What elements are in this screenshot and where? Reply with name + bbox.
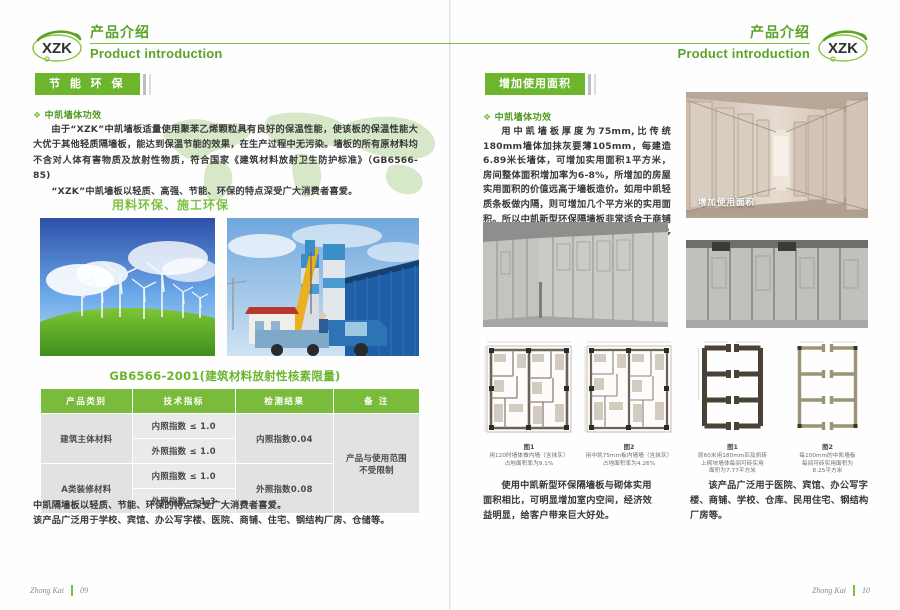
left-header-text: 产品介绍 Product introduction <box>90 24 450 62</box>
tab-divider-bar-light <box>594 74 596 95</box>
right-footer-brand: Zhong Kai <box>812 586 846 595</box>
left-header-title-cn: 产品介绍 <box>90 24 450 42</box>
th-indicator: 技术指标 <box>132 389 235 414</box>
wall-layout-1-caption-l2: 上砌块墙体每间可砖实用 <box>690 461 775 469</box>
svg-text:XZK: XZK <box>42 40 72 57</box>
right-footer-copy-left: 使用中凯新型环保隔墙板与砌体实用面积相比，可明显增加室内空间，经济效益明显，给客… <box>483 478 659 523</box>
wall-layout-2-caption-l2: 每间可砖实用面积为 <box>785 461 870 469</box>
right-section-tab[interactable]: 增加使用面积 <box>485 73 596 95</box>
left-header-rule <box>90 43 450 44</box>
wall-layout-diagram-group: 图1 原60米用180mm匹及凯砖 上砌块墙体每间可砖实用 面积为7.77平方米 <box>690 338 870 476</box>
cell-category-1: 建筑主体材料 <box>41 414 133 464</box>
left-footer-copy: 中凯隔墙板以轻质、节能、环保的特点深受广大消费者喜爱。 该产品广泛用于学校、宾馆… <box>33 498 423 528</box>
table-row: 建筑主体材料 内照指数 ≤ 1.0 内照指数0.04 产品与使用范围 不受限制 <box>41 414 420 439</box>
left-sub-heading-label: 中凯墙体功效 <box>45 111 102 121</box>
floorplan-2-caption-l1: 用中凯75mm板内墙墙（含抹灰） <box>583 453 675 461</box>
right-sub-heading-label: 中凯墙体功效 <box>495 113 552 123</box>
wall-layout-2-number: 图2 <box>785 442 870 451</box>
left-header-title-en: Product introduction <box>90 46 450 62</box>
left-green-caption: 用料环保、施工环保 <box>112 196 229 213</box>
right-header-rule <box>450 43 810 44</box>
right-section-tab-label: 增加使用面积 <box>485 73 585 95</box>
photo-corridor-label: 增加使用面积 <box>698 196 755 208</box>
th-remark: 备 注 <box>333 389 419 414</box>
th-result: 检测结果 <box>235 389 333 414</box>
left-page-header: XZK 产品介绍 Product introduction <box>30 24 450 70</box>
left-footer-line-1: 中凯隔墙板以轻质、节能、环保的特点深受广大消费者喜爱。 <box>33 498 423 513</box>
wall-layout-2-caption: 每100mm的中凯墙板 每间可砖实用面积为 8.25平方米 <box>785 453 870 476</box>
tab-divider-bar <box>588 74 591 95</box>
right-header-title-en: Product introduction <box>450 46 810 62</box>
floorplan-2-number: 图2 <box>583 442 675 451</box>
diamond-icon: ❖ <box>483 113 492 123</box>
floorplan-2-caption: 用中凯75mm板内墙墙（含抹灰） 占地面积率为4.26% <box>583 453 675 468</box>
floorplan-1-caption-l1: 用120时墙体做内墙（含抹灰） <box>483 453 575 461</box>
svg-text:XZK: XZK <box>828 40 858 57</box>
right-sub-heading: ❖中凯墙体功效 <box>483 110 552 123</box>
right-footer-copy-right: 该产品广泛用于医院、宾馆、办公写字楼、商铺、学校、仓库、民用住宅、钢结构厂房等。 <box>690 478 870 523</box>
floorplan-2-caption-l2: 占地面积率为4.26% <box>583 461 675 469</box>
radionuclide-spec-table: 产品类别 技术指标 检测结果 备 注 建筑主体材料 内照指数 ≤ 1.0 内照指… <box>40 388 420 514</box>
photo-corridor: 增加使用面积 <box>686 92 868 218</box>
right-page: XZK 产品介绍 Product introduction 增加使用面积 ❖中凯… <box>450 0 900 610</box>
floorplan-1-caption: 用120时墙体做内墙（含抹灰） 占地面积率为9.1% <box>483 453 575 468</box>
cell-remark-line1: 产品与使用范围 <box>346 453 407 463</box>
photo-construction-site <box>227 218 419 356</box>
brochure-spread: XZK 产品介绍 Product introduction 节 能 环 保 ❖中… <box>0 0 900 610</box>
cell-indicator-1a: 内照指数 ≤ 1.0 <box>132 414 235 439</box>
cell-remark-line2: 不受限制 <box>359 465 394 475</box>
cell-indicator-2a: 内照指数 ≤ 1.0 <box>132 464 235 489</box>
left-footer-brand: Zhong Kai <box>30 586 64 595</box>
floorplan-1-caption-l2: 占地面积率为9.1% <box>483 461 575 469</box>
table-title: GB6566-2001(建筑材料放射性核素限量) <box>0 368 450 384</box>
footer-divider <box>853 585 855 596</box>
photo-wall-panel-row <box>686 240 868 328</box>
left-section-tab-label: 节 能 环 保 <box>35 73 140 95</box>
th-category: 产品类别 <box>41 389 133 414</box>
left-section-tab[interactable]: 节 能 环 保 <box>35 73 151 95</box>
right-page-header: XZK 产品介绍 Product introduction <box>450 24 870 70</box>
page-gutter <box>449 0 451 610</box>
cell-indicator-1b: 外照指数 ≤ 1.0 <box>132 439 235 464</box>
tab-divider-bar-light <box>149 74 151 95</box>
right-page-footer: Zhong Kai 10 <box>812 585 870 596</box>
wall-layout-diagram-2: 图2 每100mm的中凯墙板 每间可砖实用面积为 8.25平方米 <box>785 338 870 476</box>
left-sub-heading: ❖中凯墙体功效 <box>33 108 102 121</box>
cell-result-1: 内照指数0.04 <box>235 414 333 464</box>
photo-wind-farm <box>40 218 215 356</box>
floorplan-1-number: 图1 <box>483 442 575 451</box>
photo-wall-panel-interior <box>483 222 668 327</box>
floorplan-diagram-2: 图2 用中凯75mm板内墙墙（含抹灰） 占地面积率为4.26% <box>583 338 675 468</box>
left-page-number: 09 <box>80 586 88 595</box>
wall-layout-1-caption-l1: 原60米用180mm匹及凯砖 <box>690 453 775 461</box>
xzk-logo-icon: XZK <box>816 26 870 66</box>
left-paragraph-1: 由于“XZK”中凯墙板适量使用聚苯乙烯颗粒具有良好的保温性能，使该板的保温性能大… <box>33 122 418 184</box>
wall-layout-1-number: 图1 <box>690 442 775 451</box>
left-footer-line-2: 该产品广泛用于学校、宾馆、办公写字楼、医院、商铺、住宅、钢结构厂房、仓储等。 <box>33 513 423 528</box>
wall-layout-1-caption-l3: 面积为7.77平方米 <box>690 468 775 476</box>
floorplan-diagram-1: 图1 用120时墙体做内墙（含抹灰） 占地面积率为9.1% <box>483 338 575 468</box>
left-page-footer: Zhong Kai 09 <box>30 585 88 596</box>
wall-layout-diagram-1: 图1 原60米用180mm匹及凯砖 上砌块墙体每间可砖实用 面积为7.77平方米 <box>690 338 775 476</box>
table-header-row: 产品类别 技术指标 检测结果 备 注 <box>41 389 420 414</box>
wall-layout-1-caption: 原60米用180mm匹及凯砖 上砌块墙体每间可砖实用 面积为7.77平方米 <box>690 453 775 476</box>
footer-divider <box>71 585 73 596</box>
diamond-icon: ❖ <box>33 111 42 121</box>
left-page: XZK 产品介绍 Product introduction 节 能 环 保 ❖中… <box>0 0 450 610</box>
right-header-text: 产品介绍 Product introduction <box>450 24 810 62</box>
xzk-logo-icon: XZK <box>30 26 84 66</box>
tab-divider-bar <box>143 74 146 95</box>
wall-layout-2-caption-l3: 8.25平方米 <box>785 468 870 476</box>
right-header-title-cn: 产品介绍 <box>450 24 810 42</box>
wall-layout-2-caption-l1: 每100mm的中凯墙板 <box>785 453 870 461</box>
right-page-number: 10 <box>862 586 870 595</box>
floorplan-diagram-group: 图1 用120时墙体做内墙（含抹灰） 占地面积率为9.1% <box>483 338 675 468</box>
left-body-copy: 由于“XZK”中凯墙板适量使用聚苯乙烯颗粒具有良好的保温性能，使该板的保温性能大… <box>33 122 418 199</box>
